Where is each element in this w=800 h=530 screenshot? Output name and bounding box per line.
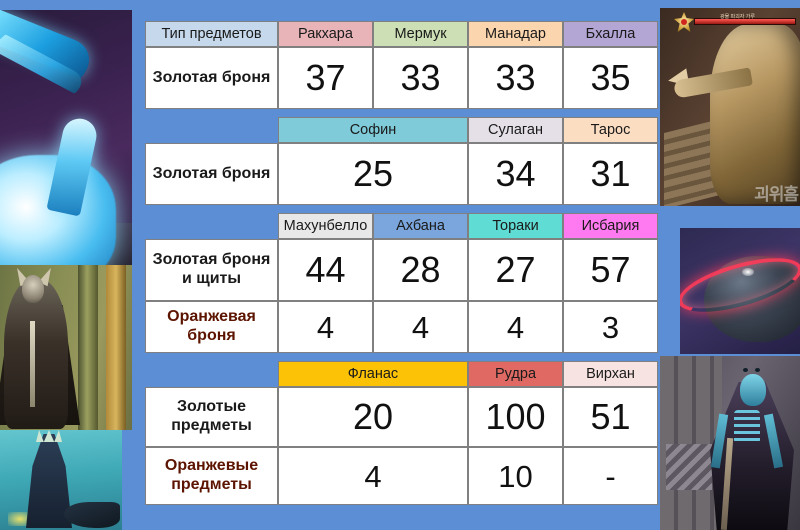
column-header-bkhalla: Бхалла xyxy=(563,21,658,47)
cell-akhbana-orange-armor: 4 xyxy=(373,301,468,353)
gap-cell xyxy=(145,353,658,361)
lich-eye-left-icon xyxy=(743,368,748,372)
cell-flanas-gold-items: 20 xyxy=(278,387,468,447)
cell-rudra-orange-items: 10 xyxy=(468,447,563,505)
sunken-object xyxy=(64,502,120,528)
column-header-sulagan: Сулаган xyxy=(468,117,563,143)
cell-taros-gold-armor: 31 xyxy=(563,143,658,205)
table-row: Золотая броня и щиты 44 28 27 57 xyxy=(145,239,658,301)
knight-sword xyxy=(30,321,35,407)
table-section-gap xyxy=(145,109,658,117)
cell-mermuk-gold-armor: 33 xyxy=(373,47,468,109)
table-header-row: Махунбелло Ахбана Тораки Исбария xyxy=(145,213,658,239)
table-row: Оранжевая броня 4 4 4 3 xyxy=(145,301,658,353)
table-row: Золотая броня 37 33 33 35 xyxy=(145,47,658,109)
cell-akhbana-gold-armor-shields: 28 xyxy=(373,239,468,301)
column-header-isbaria: Исбария xyxy=(563,213,658,239)
column-header-item-type: Тип предметов xyxy=(145,21,278,47)
red-ring-rock-screenshot xyxy=(680,228,800,354)
gap-cell xyxy=(145,205,658,213)
row-label-gold-armor-1: Золотая броня xyxy=(145,47,278,109)
column-header-toraki: Тораки xyxy=(468,213,563,239)
cell-flanas-orange-items: 4 xyxy=(278,447,468,505)
golden-boss-art: 광물 파괴자 가루 괴위흠 xyxy=(660,8,800,206)
empty-corner xyxy=(145,213,278,239)
table-row: Оранжевые предметы 4 10 - xyxy=(145,447,658,505)
row-label-gold-armor-shields: Золотая броня и щиты xyxy=(145,239,278,301)
cell-sofin-gold-armor: 25 xyxy=(278,143,468,205)
golden-boss-screenshot: 광물 파괴자 가루 괴위흠 xyxy=(660,8,800,206)
table-row: Золотые предметы 20 100 51 xyxy=(145,387,658,447)
crest-gem-icon xyxy=(681,19,687,25)
column-header-sofin: Софин xyxy=(278,117,468,143)
stone-pillar-right xyxy=(106,265,126,430)
chevron-pattern xyxy=(666,444,712,490)
row-label-gold-armor-2: Золотая броня xyxy=(145,143,278,205)
table-section-gap xyxy=(145,353,658,361)
loot-table-body: Тип предметов Ракхара Мермук Манадар Бха… xyxy=(145,21,658,505)
lich-boss-art xyxy=(660,356,800,530)
column-header-flanas: Фланас xyxy=(278,361,468,387)
cell-toraki-orange-armor: 4 xyxy=(468,301,563,353)
cell-rakhara-gold-armor: 37 xyxy=(278,47,373,109)
boss-crest-icon xyxy=(674,12,694,32)
table-header-row: Фланас Рудра Вирхан xyxy=(145,361,658,387)
column-header-makhunbello: Махунбелло xyxy=(278,213,373,239)
boss-name-label: 광물 파괴자 가루 xyxy=(720,13,755,20)
light-spark xyxy=(742,268,754,276)
dark-knight-art xyxy=(0,265,132,430)
ice-dragon-screenshot xyxy=(0,10,132,265)
column-header-rudra: Рудра xyxy=(468,361,563,387)
column-header-akhbana: Ахбана xyxy=(373,213,468,239)
column-header-rakhara: Ракхара xyxy=(278,21,373,47)
row-label-orange-armor: Оранжевая броня xyxy=(145,301,278,353)
cell-manadar-gold-armor: 33 xyxy=(468,47,563,109)
cell-virkhan-gold-items: 51 xyxy=(563,387,658,447)
table-section-gap xyxy=(145,205,658,213)
underwater-lich-screenshot xyxy=(0,430,122,530)
cell-sulagan-gold-armor: 34 xyxy=(468,143,563,205)
cell-makhunbello-gold-armor-shields: 44 xyxy=(278,239,373,301)
column-header-virkhan: Вирхан xyxy=(563,361,658,387)
knight-head xyxy=(22,275,44,303)
lich-eye-right-icon xyxy=(755,368,760,372)
row-label-orange-items: Оранжевые предметы xyxy=(145,447,278,505)
cell-toraki-gold-armor-shields: 27 xyxy=(468,239,563,301)
column-header-manadar: Манадар xyxy=(468,21,563,47)
cell-bkhalla-gold-armor: 35 xyxy=(563,47,658,109)
lich-head xyxy=(740,374,766,406)
red-ring-art xyxy=(680,228,800,354)
table-header-row: Софин Сулаган Тарос xyxy=(145,117,658,143)
cell-makhunbello-orange-armor: 4 xyxy=(278,301,373,353)
column-header-taros: Тарос xyxy=(563,117,658,143)
stone-pillar-left xyxy=(78,265,98,430)
spiked-crown-icon xyxy=(36,430,62,442)
cell-rudra-gold-items: 100 xyxy=(468,387,563,447)
dark-knight-screenshot xyxy=(0,265,132,430)
cell-isbaria-gold-armor-shields: 57 xyxy=(563,239,658,301)
empty-corner xyxy=(145,361,278,387)
stone-wall xyxy=(660,356,722,530)
gap-cell xyxy=(145,109,658,117)
underwater-art xyxy=(0,430,122,530)
row-label-gold-items: Золотые предметы xyxy=(145,387,278,447)
table-header-row: Тип предметов Ракхара Мермук Манадар Бха… xyxy=(145,21,658,47)
loot-statistics-table: Тип предметов Ракхара Мермук Манадар Бха… xyxy=(145,21,658,505)
lich-boss-screenshot xyxy=(660,356,800,530)
lich-ribcage xyxy=(734,410,760,444)
cell-virkhan-orange-items: - xyxy=(563,447,658,505)
cell-isbaria-orange-armor: 3 xyxy=(563,301,658,353)
table-row: Золотая броня 25 34 31 xyxy=(145,143,658,205)
watermark-text: 괴위흠 xyxy=(754,187,798,204)
column-header-mermuk: Мермук xyxy=(373,21,468,47)
empty-corner xyxy=(145,117,278,143)
ice-dragon-art xyxy=(0,10,132,265)
golden-boss-body xyxy=(710,24,800,204)
